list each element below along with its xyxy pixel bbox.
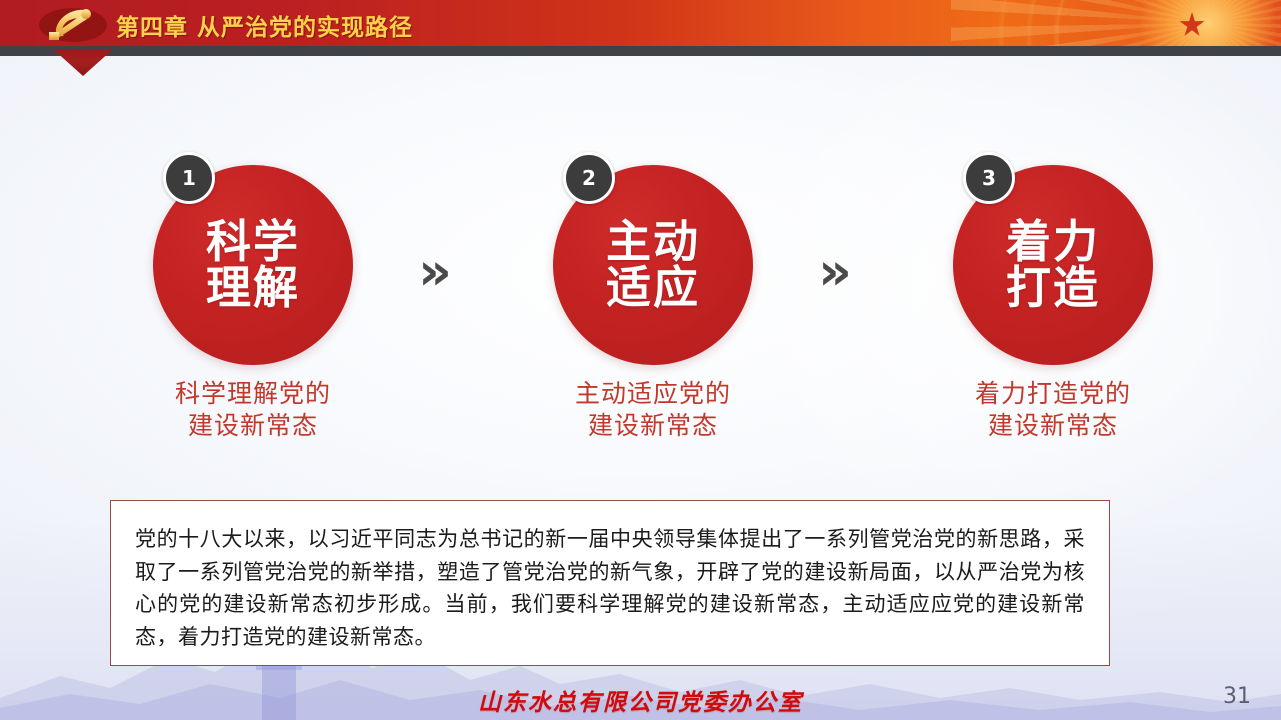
step-circle-text-line2: 打造: [1006, 265, 1100, 311]
footer-organization: 山东水总有限公司党委办公室: [0, 683, 1281, 717]
step-circle-text-3: 着力 打造: [1006, 219, 1100, 312]
step-caption-line2: 建设新常态: [103, 410, 403, 442]
step-circle-text-line1: 科学: [206, 219, 300, 265]
step-circle-text-line2: 适应: [606, 265, 700, 311]
slide: 第四章 从严治党的实现路径 科学 理解 1 科学理解党的 建设新常态: [0, 0, 1281, 720]
step-caption-line2: 建设新常态: [503, 410, 803, 442]
page-number: 31: [1223, 684, 1251, 709]
header-divider-strip: [0, 46, 1281, 56]
step-circle-text-1: 科学 理解: [206, 219, 300, 312]
step-badge-3: 3: [963, 152, 1015, 204]
ribbon-tail-decoration: [54, 50, 112, 76]
step-circle-text-line2: 理解: [206, 265, 300, 311]
slide-header: 第四章 从严治党的实现路径: [0, 0, 1281, 46]
step-caption-line1: 着力打造党的: [903, 378, 1203, 410]
step-caption-line1: 主动适应党的: [503, 378, 803, 410]
step-caption-3: 着力打造党的 建设新常态: [903, 378, 1203, 442]
hammer-sickle-icon: [37, 5, 109, 43]
concentric-rings-decoration: [951, 0, 1251, 46]
step-caption-line2: 建设新常态: [903, 410, 1203, 442]
step-item-3[interactable]: 着力 打造 3 着力打造党的 建设新常态: [903, 150, 1203, 442]
steps-row: 科学 理解 1 科学理解党的 建设新常态 主动 适应 2: [0, 150, 1281, 480]
step-item-2[interactable]: 主动 适应 2 主动适应党的 建设新常态: [503, 150, 803, 442]
step-circle-text-line1: 主动: [606, 219, 700, 265]
body-text-box: 党的十八大以来，以习近平同志为总书记的新一届中央领导集体提出了一系列管党治党的新…: [110, 500, 1110, 666]
step-circle-text-2: 主动 适应: [606, 219, 700, 312]
step-caption-1: 科学理解党的 建设新常态: [103, 378, 403, 442]
step-caption-line1: 科学理解党的: [103, 378, 403, 410]
step-circle-wrap-1: 科学 理解 1: [153, 150, 353, 350]
step-circle-wrap-2: 主动 适应 2: [553, 150, 753, 350]
step-circle-text-line1: 着力: [1006, 219, 1100, 265]
chevron-right-double-icon: »: [805, 242, 865, 302]
page-title: 第四章 从严治党的实现路径: [116, 8, 413, 42]
step-badge-2: 2: [563, 152, 615, 204]
chevron-right-double-icon: »: [405, 242, 465, 302]
step-circle-wrap-3: 着力 打造 3: [953, 150, 1153, 350]
step-badge-1: 1: [163, 152, 215, 204]
body-paragraph: 党的十八大以来，以习近平同志为总书记的新一届中央领导集体提出了一系列管党治党的新…: [135, 523, 1085, 653]
star-icon: [1179, 12, 1205, 38]
step-item-1[interactable]: 科学 理解 1 科学理解党的 建设新常态: [103, 150, 403, 442]
sunburst-rays-decoration: [951, 0, 1281, 46]
step-caption-2: 主动适应党的 建设新常态: [503, 378, 803, 442]
